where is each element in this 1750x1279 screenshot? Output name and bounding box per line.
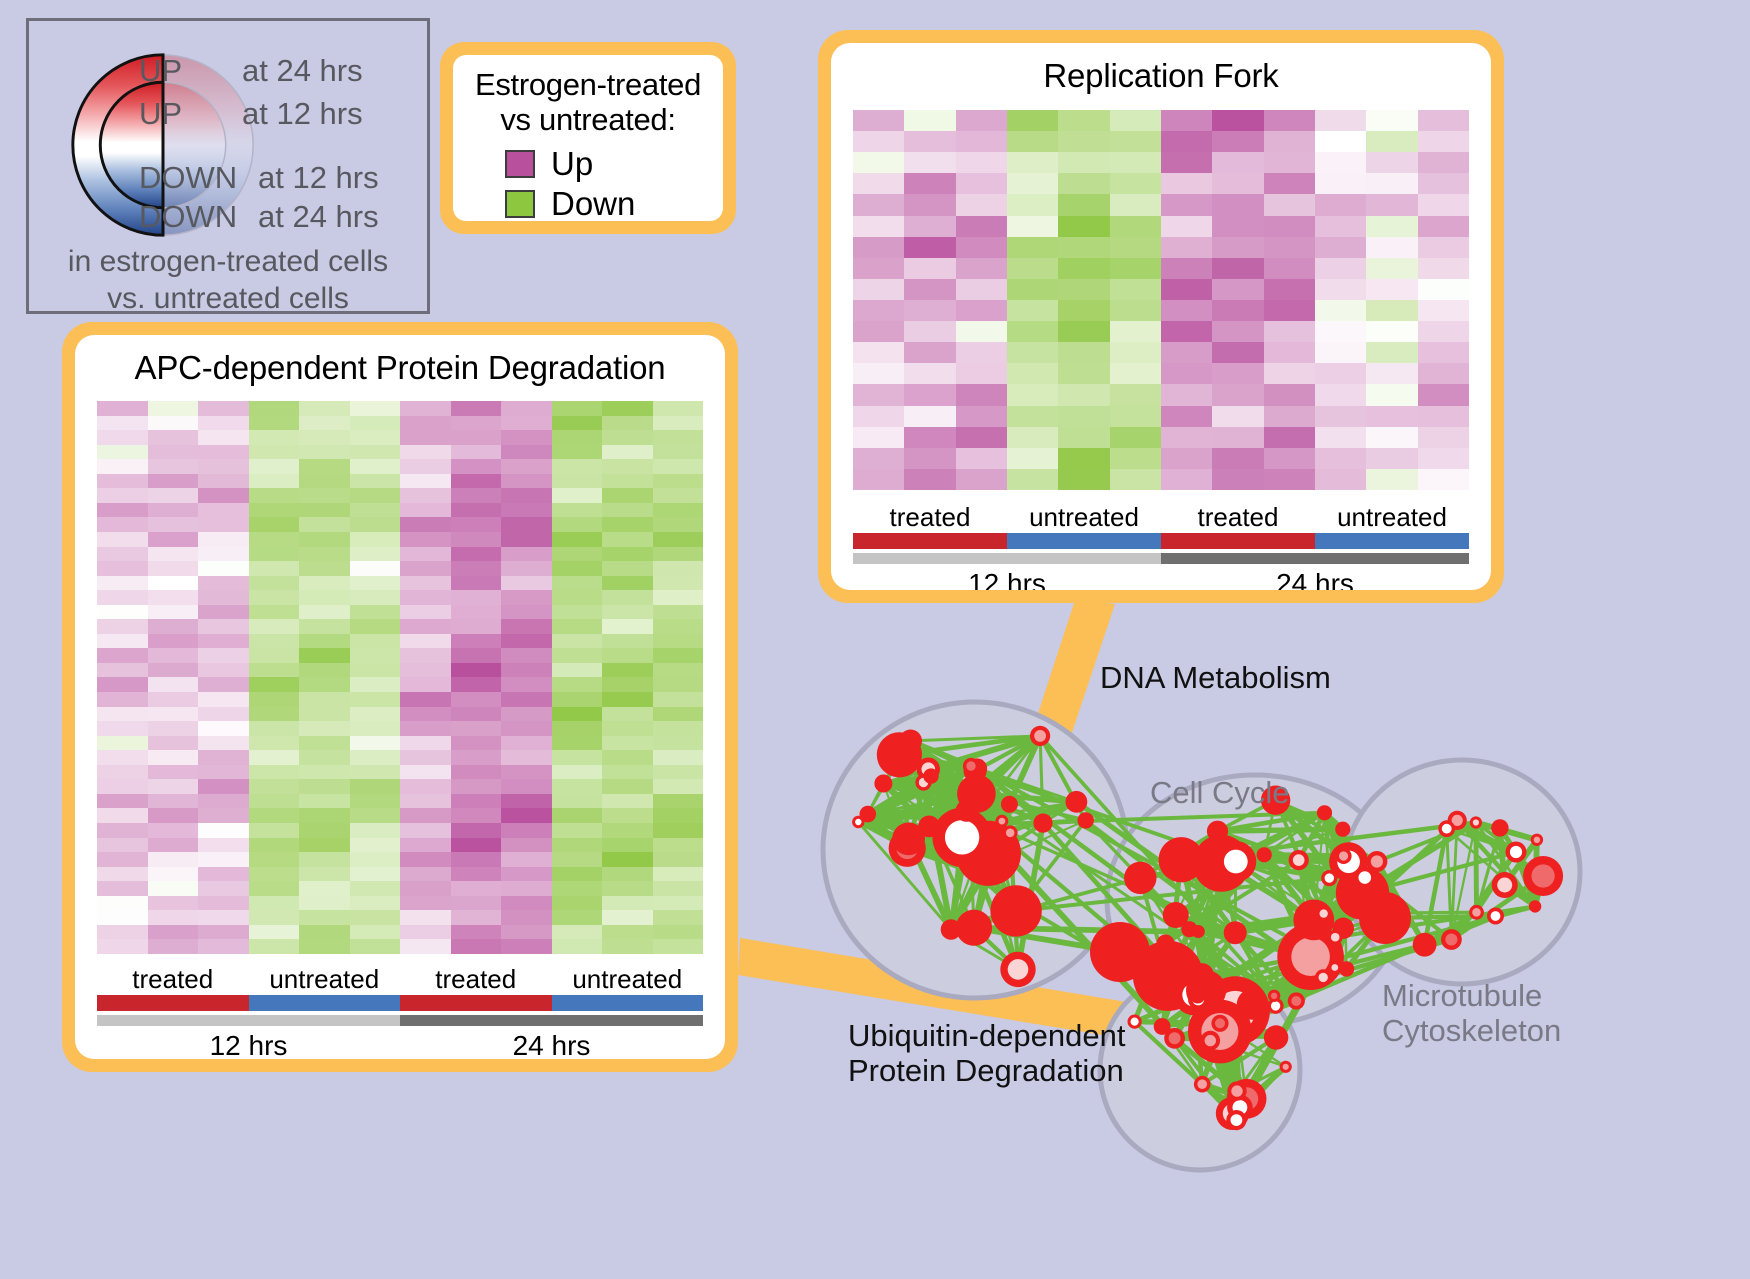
heatmap-cell — [1007, 363, 1058, 384]
heatmap-cell — [1418, 342, 1469, 363]
heatmap-cell — [451, 707, 502, 722]
heatmap-cell — [1212, 363, 1263, 384]
heatmap-cell — [501, 459, 552, 474]
network-node[interactable] — [1207, 821, 1228, 842]
heatmap-cell — [400, 532, 451, 547]
heatmap-cell — [1212, 469, 1263, 490]
network-node-core — [1371, 855, 1383, 867]
heatmap-cell — [148, 459, 199, 474]
heatmap-cell — [451, 605, 502, 620]
network-node[interactable] — [1491, 819, 1508, 836]
heatmap-cell — [350, 838, 401, 853]
heatmap-cell — [148, 707, 199, 722]
heatmap-cell — [97, 503, 148, 518]
heatmap-cell — [1366, 384, 1417, 405]
heatmap-cell — [956, 279, 1007, 300]
column-group-label: treated — [853, 502, 1007, 533]
heatmap-cell — [1366, 194, 1417, 215]
network-node[interactable] — [1293, 900, 1334, 941]
heatmap-cell — [299, 401, 350, 416]
heatmap-cell — [249, 561, 300, 576]
replication-fork-time-labels: 12 hrs24 hrs — [853, 568, 1469, 590]
heatmap-cell — [451, 736, 502, 751]
heatmap-cell — [400, 779, 451, 794]
heatmap-cell — [1264, 237, 1315, 258]
legend-item-up: Up — [505, 144, 723, 184]
heatmap-cell — [299, 808, 350, 823]
heatmap-cell — [853, 131, 904, 152]
network-node[interactable] — [1224, 921, 1247, 944]
heatmap-cell — [1007, 216, 1058, 237]
heatmap-cell — [350, 677, 401, 692]
heatmap-cell — [299, 939, 350, 954]
heatmap-cell — [1110, 110, 1161, 131]
heatmap-cell — [904, 469, 955, 490]
heatmap-cell — [602, 517, 653, 532]
heatmap-cell — [249, 605, 300, 620]
time-group-label: 12 hrs — [853, 568, 1161, 590]
heatmap-cell — [299, 517, 350, 532]
heatmap-cell — [1007, 300, 1058, 321]
heatmap-cell — [1212, 427, 1263, 448]
heatmap-cell — [400, 707, 451, 722]
heatmap-cell — [97, 590, 148, 605]
colormap-footer-line2: vs. untreated cells — [29, 280, 427, 317]
heatmap-cell — [249, 808, 300, 823]
heatmap-cell — [249, 881, 300, 896]
heatmap-cell — [501, 561, 552, 576]
network-node-core — [999, 818, 1006, 825]
heatmap-cell — [1418, 173, 1469, 194]
heatmap-cell — [1315, 342, 1366, 363]
heatmap-cell — [602, 561, 653, 576]
heatmap-cell — [653, 474, 704, 489]
heatmap-cell — [653, 401, 704, 416]
network-node[interactable] — [966, 865, 978, 877]
heatmap-cell — [350, 925, 401, 940]
heatmap-cell — [198, 488, 249, 503]
heatmap-cell — [400, 430, 451, 445]
heatmap-cell — [1264, 194, 1315, 215]
network-node[interactable] — [1190, 963, 1214, 987]
heatmap-cell — [148, 721, 199, 736]
heatmap-cell — [552, 779, 603, 794]
heatmap-cell — [602, 576, 653, 591]
heatmap-cell — [400, 794, 451, 809]
time-group-label: 24 hrs — [1161, 568, 1469, 590]
heatmap-cell — [904, 216, 955, 237]
heatmap-cell — [1161, 173, 1212, 194]
heatmap-cell — [1212, 258, 1263, 279]
heatmap-cell — [249, 517, 300, 532]
heatmap-cell — [400, 721, 451, 736]
heatmap-cell — [400, 561, 451, 576]
heatmap-cell — [451, 517, 502, 532]
heatmap-cell — [1212, 152, 1263, 173]
network-node-core — [1205, 1035, 1216, 1046]
network-node[interactable] — [1190, 989, 1205, 1004]
network-node-core — [1510, 846, 1522, 858]
heatmap-cell — [198, 721, 249, 736]
network-node-core — [1271, 1001, 1280, 1010]
colormap-footer: in estrogen-treated cells vs. untreated … — [29, 243, 427, 317]
heatmap-cell — [501, 779, 552, 794]
heatmap-cell — [1366, 110, 1417, 131]
network-node[interactable] — [1264, 1025, 1288, 1049]
heatmap-cell — [350, 605, 401, 620]
heatmap-cell — [198, 925, 249, 940]
heatmap-cell — [1212, 448, 1263, 469]
network-node[interactable] — [1033, 814, 1052, 833]
heatmap-cell — [148, 532, 199, 547]
heatmap-cell — [1110, 384, 1161, 405]
heatmap-cell — [501, 663, 552, 678]
heatmap-cell — [501, 736, 552, 751]
heatmap-cell — [1110, 406, 1161, 427]
heatmap-cell — [249, 677, 300, 692]
heatmap-cell — [198, 692, 249, 707]
heatmap-cell — [1161, 237, 1212, 258]
heatmap-cell — [198, 576, 249, 591]
heatmap-cell — [1161, 427, 1212, 448]
network-node[interactable] — [1078, 812, 1094, 828]
colormap-row-1-time: at 12 hrs — [242, 96, 363, 132]
heatmap-cell — [602, 707, 653, 722]
heatmap-cell — [198, 794, 249, 809]
heatmap-cell — [1366, 258, 1417, 279]
heatmap-cell — [1110, 321, 1161, 342]
heatmap-cell — [602, 605, 653, 620]
heatmap-cell — [602, 896, 653, 911]
heatmap-cell — [501, 867, 552, 882]
heatmap-cell — [853, 406, 904, 427]
heatmap-cell — [653, 619, 704, 634]
heatmap-cell — [853, 448, 904, 469]
heatmap-cell — [653, 765, 704, 780]
heatmap-cell — [198, 445, 249, 460]
heatmap-cell — [552, 561, 603, 576]
heatmap-cell — [552, 765, 603, 780]
heatmap-cell — [1110, 152, 1161, 173]
heatmap-cell — [400, 474, 451, 489]
network-node-core — [1491, 911, 1501, 921]
network-node[interactable] — [1001, 796, 1018, 813]
network-node[interactable] — [874, 775, 892, 793]
heatmap-cell — [148, 677, 199, 692]
replication-fork-time-bar — [853, 553, 1469, 564]
network-node-core — [1231, 1085, 1242, 1096]
heatmap-cell — [97, 648, 148, 663]
heatmap-cell — [1315, 427, 1366, 448]
network-node[interactable] — [1339, 961, 1354, 976]
heatmap-cell — [653, 416, 704, 431]
heatmap-cell — [602, 838, 653, 853]
network-node[interactable] — [1090, 922, 1150, 982]
heatmap-cell — [1161, 152, 1212, 173]
network-node[interactable] — [1257, 847, 1272, 862]
heatmap-cell — [1161, 384, 1212, 405]
heatmap-cell — [653, 910, 704, 925]
heatmap-cell — [1007, 384, 1058, 405]
network-node-core — [1169, 1032, 1181, 1044]
network-node[interactable] — [956, 800, 978, 822]
heatmap-cell — [602, 910, 653, 925]
heatmap-cell — [198, 532, 249, 547]
network-node[interactable] — [923, 768, 938, 783]
heatmap-cell — [148, 590, 199, 605]
heatmap-cell — [552, 838, 603, 853]
heatmap-cell — [853, 469, 904, 490]
heatmap-cell — [602, 867, 653, 882]
heatmap-cell — [299, 576, 350, 591]
heatmap-cell — [1264, 258, 1315, 279]
heatmap-cell — [552, 605, 603, 620]
heatmap-cell — [148, 547, 199, 562]
heatmap-cell — [853, 110, 904, 131]
heatmap-cell — [198, 401, 249, 416]
network-node-core — [1320, 909, 1328, 917]
replication-fork-treatment-bar — [853, 533, 1469, 549]
heatmap-cell — [1418, 258, 1469, 279]
heatmap-cell — [400, 925, 451, 940]
heatmap-cell — [97, 867, 148, 882]
heatmap-cell — [148, 576, 199, 591]
heatmap-cell — [97, 401, 148, 416]
network-node[interactable] — [1359, 892, 1411, 944]
network-node[interactable] — [1159, 837, 1204, 882]
heatmap-cell — [1007, 427, 1058, 448]
heatmap-cell — [97, 910, 148, 925]
heatmap-cell — [1110, 300, 1161, 321]
heatmap-cell — [400, 736, 451, 751]
heatmap-cell — [299, 910, 350, 925]
heatmap-cell — [501, 532, 552, 547]
heatmap-cell — [602, 634, 653, 649]
treatment-bar-segment — [249, 995, 401, 1011]
heatmap-cell — [956, 384, 1007, 405]
heatmap-cell — [904, 406, 955, 427]
heatmap-cell — [97, 488, 148, 503]
heatmap-cell — [400, 605, 451, 620]
heatmap-cell — [1007, 279, 1058, 300]
network-node-core — [1359, 871, 1372, 884]
heatmap-cell — [400, 445, 451, 460]
heatmap-cell — [148, 503, 199, 518]
heatmap-cell — [853, 384, 904, 405]
heatmap-cell — [1264, 131, 1315, 152]
network-node[interactable] — [1192, 925, 1205, 938]
heatmap-cell — [853, 300, 904, 321]
heatmap-cell — [97, 823, 148, 838]
legend-item-down-label: Down — [551, 185, 635, 221]
heatmap-cell — [299, 663, 350, 678]
heatmap-cell — [451, 838, 502, 853]
heatmap-cell — [400, 939, 451, 954]
heatmap-cell — [956, 152, 1007, 173]
heatmap-cell — [451, 910, 502, 925]
heatmap-cell — [350, 852, 401, 867]
heatmap-cell — [552, 648, 603, 663]
heatmap-cell — [350, 721, 401, 736]
heatmap-cell — [350, 881, 401, 896]
heatmap-cell — [350, 576, 401, 591]
heatmap-cell — [956, 173, 1007, 194]
heatmap-cell — [451, 663, 502, 678]
network-node[interactable] — [990, 885, 1041, 936]
heatmap-cell — [1315, 152, 1366, 173]
heatmap-cell — [653, 503, 704, 518]
network-node[interactable] — [941, 919, 962, 940]
heatmap-cell — [1058, 448, 1109, 469]
network-node[interactable] — [956, 910, 992, 946]
heatmap-cell — [350, 547, 401, 562]
heatmap-cell — [97, 416, 148, 431]
network-node[interactable] — [899, 730, 922, 753]
heatmap-cell — [552, 939, 603, 954]
network-node[interactable] — [1157, 935, 1175, 953]
network-node[interactable] — [918, 816, 940, 838]
heatmap-cell — [904, 237, 955, 258]
time-group-label: 12 hrs — [97, 1030, 400, 1059]
heatmap-cell — [853, 173, 904, 194]
legend-title-line2: vs untreated: — [453, 103, 723, 138]
network-node-core — [1008, 959, 1029, 980]
heatmap-cell — [400, 852, 451, 867]
heatmap-cell — [299, 619, 350, 634]
network-node[interactable] — [1124, 862, 1156, 894]
heatmap-cell — [299, 590, 350, 605]
network-node[interactable] — [1154, 1018, 1171, 1035]
heatmap-cell — [400, 838, 451, 853]
heatmap-cell — [653, 779, 704, 794]
heatmap-cell — [501, 852, 552, 867]
heatmap-cell — [1264, 173, 1315, 194]
heatmap-cell — [501, 721, 552, 736]
heatmap-cell — [1058, 216, 1109, 237]
heatmap-cell — [350, 823, 401, 838]
heatmap-cell — [400, 401, 451, 416]
heatmap-cell — [249, 925, 300, 940]
heatmap-cell — [853, 152, 904, 173]
legend-item-down: Down — [505, 184, 723, 221]
network-node[interactable] — [1413, 933, 1437, 957]
heatmap-cell — [552, 808, 603, 823]
heatmap-cell — [956, 406, 1007, 427]
heatmap-cell — [853, 279, 904, 300]
heatmap-cell — [602, 459, 653, 474]
down-color-swatch — [505, 190, 535, 218]
network-node[interactable] — [1529, 900, 1541, 912]
heatmap-cell — [350, 707, 401, 722]
network-node[interactable] — [1342, 891, 1367, 916]
heatmap-cell — [299, 677, 350, 692]
heatmap-cell — [1007, 469, 1058, 490]
heatmap-cell — [299, 459, 350, 474]
heatmap-cell — [1161, 342, 1212, 363]
network-node-core — [1532, 864, 1555, 887]
heatmap-cell — [1212, 342, 1263, 363]
heatmap-cell — [1418, 363, 1469, 384]
heatmap-cell — [198, 459, 249, 474]
pathway-network: DNA Metabolism Cell Cycle Microtubule Cy… — [790, 600, 1750, 1279]
heatmap-cell — [1161, 279, 1212, 300]
heatmap-cell — [1007, 406, 1058, 427]
heatmap-cell — [1418, 321, 1469, 342]
heatmap-cell — [653, 590, 704, 605]
heatmap-cell — [1161, 363, 1212, 384]
network-node[interactable] — [1317, 805, 1332, 820]
heatmap-cell — [904, 152, 955, 173]
heatmap-cell — [299, 474, 350, 489]
heatmap-cell — [501, 430, 552, 445]
heatmap-cell — [1264, 110, 1315, 131]
heatmap-cell — [602, 488, 653, 503]
heatmap-cell — [198, 750, 249, 765]
heatmap-cell — [653, 634, 704, 649]
heatmap-cell — [501, 488, 552, 503]
heatmap-cell — [400, 459, 451, 474]
heatmap-cell — [1007, 448, 1058, 469]
network-node-core — [1325, 873, 1334, 882]
network-node[interactable] — [1237, 989, 1268, 1020]
network-node-core — [1006, 829, 1015, 838]
heatmap-cell — [1264, 448, 1315, 469]
colormap-row-3-time: at 24 hrs — [258, 199, 379, 235]
heatmap-cell — [451, 677, 502, 692]
heatmap-cell — [148, 517, 199, 532]
network-node[interactable] — [1335, 822, 1350, 837]
heatmap-cell — [350, 401, 401, 416]
heatmap-cell — [1418, 216, 1469, 237]
heatmap-cell — [552, 721, 603, 736]
heatmap-cell — [97, 838, 148, 853]
heatmap-cell — [400, 750, 451, 765]
heatmap-cell — [1212, 131, 1263, 152]
heatmap-cell — [198, 561, 249, 576]
heatmap-cell — [249, 663, 300, 678]
network-node[interactable] — [1066, 791, 1088, 813]
heatmap-cell — [552, 430, 603, 445]
heatmap-cell — [97, 619, 148, 634]
heatmap-cell — [148, 794, 199, 809]
heatmap-cell — [148, 765, 199, 780]
heatmap-cell — [501, 925, 552, 940]
heatmap-cell — [451, 474, 502, 489]
network-node-core — [1331, 933, 1340, 942]
network-node-core — [855, 819, 861, 825]
heatmap-cell — [501, 445, 552, 460]
network-edge — [1476, 823, 1477, 913]
heatmap-cell — [602, 881, 653, 896]
legend-item-up-label: Up — [551, 145, 593, 183]
heatmap-cell — [148, 852, 199, 867]
heatmap-cell — [148, 692, 199, 707]
heatmap-cell — [1058, 384, 1109, 405]
legend-title: Estrogen-treated vs untreated: — [453, 55, 723, 137]
heatmap-cell — [249, 779, 300, 794]
heatmap-cell — [299, 794, 350, 809]
heatmap-cell — [1110, 216, 1161, 237]
heatmap-cell — [1110, 448, 1161, 469]
heatmap-cell — [97, 576, 148, 591]
heatmap-cell — [249, 401, 300, 416]
heatmap-cell — [653, 692, 704, 707]
heatmap-cell — [97, 939, 148, 954]
heatmap-cell — [602, 939, 653, 954]
heatmap-cell — [148, 808, 199, 823]
heatmap-cell — [1366, 469, 1417, 490]
heatmap-cell — [1058, 363, 1109, 384]
